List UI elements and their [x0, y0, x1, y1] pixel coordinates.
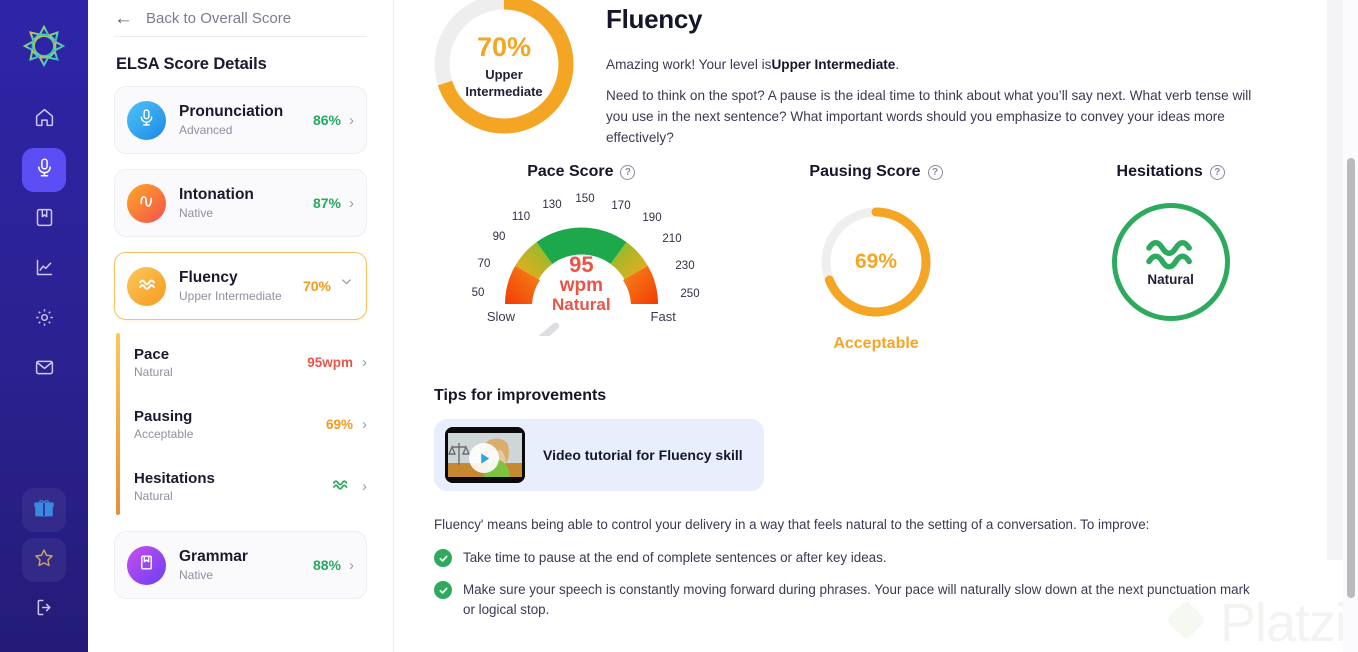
hero-text-block: Fluency Amazing work! Your level isUpper…	[584, 0, 1318, 148]
nav-item-practice[interactable]	[22, 148, 66, 192]
avatar	[127, 267, 166, 306]
subitem-name: Hesitations	[134, 470, 329, 487]
arrow-left-icon: ←	[114, 9, 133, 28]
sidebar-item-pausing[interactable]: Pausing Acceptable 69% ›	[134, 393, 367, 455]
nav-item-library[interactable]	[22, 198, 66, 242]
status-badge: 70%	[303, 278, 331, 294]
subitem-value: 69%	[326, 417, 353, 432]
skill-name: Pronunciation	[179, 103, 313, 121]
nav-item-logout[interactable]	[22, 588, 66, 632]
subitem-level: Natural	[134, 489, 329, 503]
active-group-bar	[116, 333, 120, 515]
status-badge: 88%	[313, 557, 341, 573]
app-root: ← Back to Overall Score ELSA Score Detai…	[0, 0, 1358, 652]
subitem-name: Pace	[134, 346, 307, 363]
metric-title: Hesitations	[1117, 163, 1203, 181]
tips-heading: Tips for improvements	[434, 387, 1318, 405]
overall-score-ring: 70% Upper Intermediate	[424, 0, 584, 157]
chevron-right-icon: ›	[362, 479, 367, 494]
fluency-hero: 70% Upper Intermediate Fluency Amazing w…	[434, 0, 1318, 157]
metric-title: Pausing Score	[809, 163, 920, 181]
score-details-panel: ← Back to Overall Score ELSA Score Detai…	[88, 0, 394, 652]
gauge-needle	[520, 326, 556, 336]
svg-text:130: 130	[542, 199, 561, 211]
microphone-icon	[34, 157, 55, 183]
hero-lead-suffix: .	[895, 57, 899, 72]
gauge-value: 95	[454, 254, 709, 276]
tips-bullet-list: Take time to pause at the end of complet…	[434, 548, 1318, 619]
panel-divider	[114, 36, 367, 37]
approx-wave-icon	[329, 482, 353, 497]
pausing-ring: 69%	[817, 203, 935, 321]
svg-text:210: 210	[662, 233, 681, 245]
content-scrollbar-track[interactable]	[1327, 0, 1343, 560]
book-icon	[137, 553, 156, 577]
tip-text: Make sure your speech is constantly movi…	[463, 580, 1258, 619]
fluency-description: Fluency' means being able to control you…	[434, 517, 1234, 532]
star-icon	[33, 547, 55, 574]
hero-lead-level: Upper Intermediate	[771, 57, 895, 72]
tip-text: Take time to pause at the end of complet…	[463, 548, 887, 567]
gauge-end-labels: Slow Fast	[454, 309, 709, 324]
avatar	[127, 546, 166, 585]
video-tutorial-card[interactable]: Video tutorial for Fluency skill	[434, 419, 764, 491]
svg-text:110: 110	[512, 211, 530, 223]
page-title: ELSA Score Details	[116, 55, 367, 74]
skill-level: Native	[179, 568, 313, 582]
elsa-star-logo-icon[interactable]	[18, 20, 70, 72]
question-mark-icon[interactable]: ?	[1210, 165, 1225, 180]
hero-paragraph: Need to think on the spot? A pause is th…	[606, 85, 1261, 148]
svg-text:150: 150	[575, 193, 594, 205]
skill-name: Intonation	[179, 186, 313, 204]
nav-item-favorites[interactable]	[22, 538, 66, 582]
subitem-level: Natural	[134, 365, 307, 379]
play-icon[interactable]	[469, 443, 499, 473]
ring-level-line1: Upper	[485, 67, 523, 82]
waveform-icon	[137, 191, 157, 216]
fluency-subitem-list: Pace Natural 95wpm › Pausing Acceptable …	[116, 331, 367, 517]
ring-level-line2: Intermediate	[465, 84, 542, 99]
back-to-overall-score-button[interactable]: ← Back to Overall Score	[114, 0, 367, 36]
metric-pausing: Pausing Score ? 69% Acceptable	[729, 163, 1024, 353]
subitem-value: 95wpm	[307, 355, 353, 370]
nav-item-rewards[interactable]	[22, 488, 66, 532]
svg-text:170: 170	[611, 200, 630, 212]
metric-title: Pace Score	[527, 163, 613, 181]
metric-header: Pausing Score ?	[809, 163, 942, 181]
question-mark-icon[interactable]: ?	[620, 165, 635, 180]
main-content: 70% Upper Intermediate Fluency Amazing w…	[394, 0, 1358, 652]
gift-icon	[33, 497, 55, 524]
approx-wave-icon	[136, 273, 158, 300]
chevron-right-icon: ›	[349, 558, 354, 573]
chart-line-icon	[34, 257, 55, 283]
gauge-unit: wpm	[454, 276, 709, 295]
page-heading: Fluency	[606, 4, 1318, 35]
nav-item-list	[22, 98, 66, 392]
subitem-level: Acceptable	[134, 427, 326, 441]
video-thumbnail	[445, 427, 525, 483]
back-label: Back to Overall Score	[146, 10, 291, 27]
video-title: Video tutorial for Fluency skill	[543, 447, 743, 463]
nav-bottom-list	[0, 488, 88, 632]
skill-level: Native	[179, 206, 313, 220]
pausing-percent: 69%	[817, 203, 935, 321]
ring-percent-value: 70%	[477, 32, 531, 62]
hesitations-ring: Natural	[1112, 203, 1230, 321]
sidebar-item-pace[interactable]: Pace Natural 95wpm ›	[134, 331, 367, 393]
sidebar-item-grammar[interactable]: Grammar Native 88% ›	[114, 531, 367, 599]
skill-level: Advanced	[179, 123, 313, 137]
chevron-right-icon: ›	[349, 196, 354, 211]
nav-item-home[interactable]	[22, 98, 66, 142]
svg-text:190: 190	[642, 212, 661, 224]
chevron-right-icon: ›	[362, 417, 367, 432]
metrics-row: Pace Score ?	[434, 163, 1318, 353]
gauge-center-readout: 95 wpm Natural	[454, 254, 709, 313]
gauge-right-label: Fast	[651, 309, 676, 324]
pace-gauge: 50 70 90 110 130 150 170 190 210 230 250	[454, 191, 709, 336]
metric-header: Hesitations ?	[1117, 163, 1225, 181]
question-mark-icon[interactable]: ?	[928, 165, 943, 180]
microphone-icon	[137, 108, 156, 132]
check-circle-icon	[434, 581, 452, 599]
skill-level: Upper Intermediate	[179, 289, 303, 303]
subitem-value	[329, 475, 353, 497]
mail-icon	[34, 357, 55, 383]
chevron-right-icon: ›	[349, 113, 354, 128]
metric-header: Pace Score ?	[527, 163, 635, 181]
book-bookmark-icon	[34, 207, 55, 233]
chevron-right-icon: ›	[362, 355, 367, 370]
pausing-caption: Acceptable	[833, 335, 918, 353]
list-item: Take time to pause at the end of complet…	[434, 548, 1318, 567]
sidebar-item-hesitations[interactable]: Hesitations Natural ›	[134, 455, 367, 517]
hero-lead: Amazing work! Your level isUpper Interme…	[606, 57, 1318, 72]
skill-name: Fluency	[179, 269, 303, 287]
skill-name: Grammar	[179, 548, 313, 566]
page-scrollbar-thumb[interactable]	[1347, 158, 1355, 598]
sidebar-item-fluency[interactable]: Fluency Upper Intermediate 70%	[114, 252, 367, 320]
avatar	[127, 184, 166, 223]
metric-pace: Pace Score ?	[434, 163, 729, 353]
status-badge: 87%	[313, 195, 341, 211]
hesitations-caption: Natural	[1147, 272, 1194, 287]
nav-item-progress[interactable]	[22, 248, 66, 292]
avatar	[127, 101, 166, 140]
logout-icon	[34, 597, 55, 623]
hero-lead-prefix: Amazing work! Your level is	[606, 57, 771, 72]
home-icon	[34, 107, 55, 133]
metric-hesitations: Hesitations ? Natural	[1023, 163, 1318, 353]
gauge-left-label: Slow	[487, 309, 515, 324]
nav-item-settings[interactable]	[22, 298, 66, 342]
sidebar-item-pronunciation[interactable]: Pronunciation Advanced 86% ›	[114, 86, 367, 154]
subitem-name: Pausing	[134, 408, 326, 425]
check-circle-icon	[434, 549, 452, 567]
list-item: Make sure your speech is constantly movi…	[434, 580, 1318, 619]
chevron-down-icon	[339, 274, 354, 291]
svg-text:90: 90	[492, 231, 505, 243]
primary-nav-rail	[0, 0, 88, 652]
sidebar-item-intonation[interactable]: Intonation Native 87% ›	[114, 169, 367, 237]
nav-item-inbox[interactable]	[22, 348, 66, 392]
gear-icon	[34, 307, 55, 333]
status-badge: 86%	[313, 112, 341, 128]
